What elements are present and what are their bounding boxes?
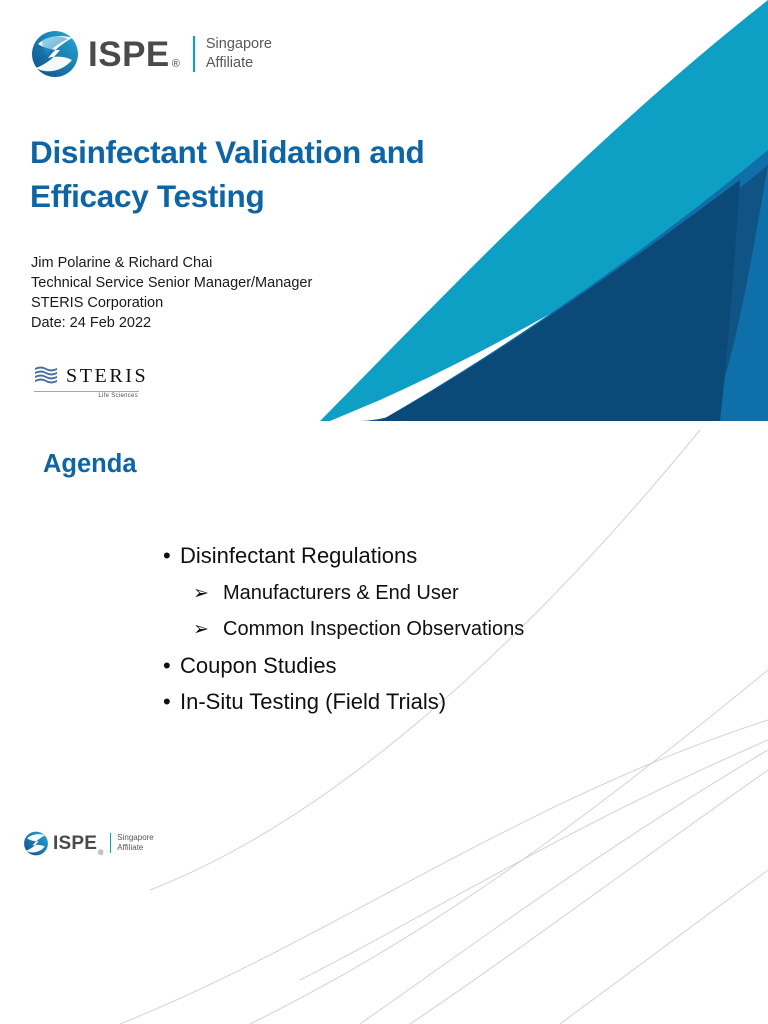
ispe-wordmark: ISPE ® Singapore Affiliate (88, 35, 272, 72)
bullet-arrow-icon: ➢ (193, 612, 223, 648)
agenda-item-label: Coupon Studies (180, 648, 337, 685)
agenda-item-label: In-Situ Testing (Field Trials) (180, 684, 446, 721)
affiliate-line-2: Affiliate (206, 54, 272, 73)
steris-name: STERIS (66, 366, 148, 386)
decorative-curves (0, 420, 768, 1024)
slide-footer: ISPE ® Singapore Affiliate Connecting Ph… (0, 826, 768, 862)
presentation-date: Date: 24 Feb 2022 (31, 313, 312, 333)
steris-rule (34, 391, 139, 392)
presenter-role: Technical Service Senior Manager/Manager (31, 273, 312, 293)
footer-ispe-wordmark: ISPE (53, 834, 97, 853)
list-item: ➢ Manufacturers & End User (163, 575, 723, 612)
agenda-list: • Disinfectant Regulations ➢ Manufacture… (163, 538, 723, 721)
list-item: • In-Situ Testing (Field Trials) (163, 684, 723, 721)
agenda-heading: Agenda (43, 450, 137, 479)
slide-title-line-2: Efficacy Testing (30, 174, 510, 218)
steris-logo-row: STERIS (33, 363, 153, 389)
registered-mark-icon: ® (172, 58, 180, 73)
bullet-arrow-icon: ➢ (193, 576, 223, 612)
footer-affiliate-line-2: Affiliate (117, 843, 153, 853)
steris-logo: STERIS Life Sciences (33, 363, 153, 399)
bullet-dot-icon: • (163, 684, 180, 721)
footer-affiliate-line-1: Singapore (117, 833, 153, 843)
ispe-globe-icon (22, 830, 50, 857)
slide-title-line-1: Disinfectant Validation and (30, 130, 510, 174)
list-item: • Coupon Studies (163, 648, 723, 685)
footer-logo-divider (110, 833, 111, 853)
logo-divider (193, 36, 195, 72)
agenda-item-label: Manufacturers & End User (223, 575, 459, 612)
bullet-dot-icon: • (163, 538, 180, 575)
ispe-globe-icon (28, 28, 82, 80)
presenter-company: STERIS Corporation (31, 293, 312, 313)
agenda-item-label: Common Inspection Observations (223, 611, 524, 648)
footer-affiliate-label: Singapore Affiliate (117, 833, 153, 854)
steris-waves-icon (33, 363, 59, 389)
slide-page: ISPE ® Singapore Affiliate Disinfectant … (0, 0, 768, 1024)
slide-title: Disinfectant Validation and Efficacy Tes… (30, 130, 510, 218)
list-item: ➢ Common Inspection Observations (163, 611, 723, 648)
presenter-names: Jim Polarine & Richard Chai (31, 253, 312, 273)
list-item: • Disinfectant Regulations (163, 538, 723, 575)
footer-ispe-logo: ISPE ® Singapore Affiliate (22, 828, 154, 858)
affiliate-label: Singapore Affiliate (206, 35, 272, 72)
steris-tagline: Life Sciences (33, 393, 138, 399)
header-ispe-logo: ISPE ® Singapore Affiliate (28, 26, 272, 82)
registered-mark-icon: ® (98, 850, 103, 858)
affiliate-line-1: Singapore (206, 35, 272, 54)
ispe-wordmark-text: ISPE (88, 37, 170, 72)
agenda-item-label: Disinfectant Regulations (180, 538, 417, 575)
bullet-dot-icon: • (163, 648, 180, 685)
presenter-info: Jim Polarine & Richard Chai Technical Se… (31, 253, 312, 333)
